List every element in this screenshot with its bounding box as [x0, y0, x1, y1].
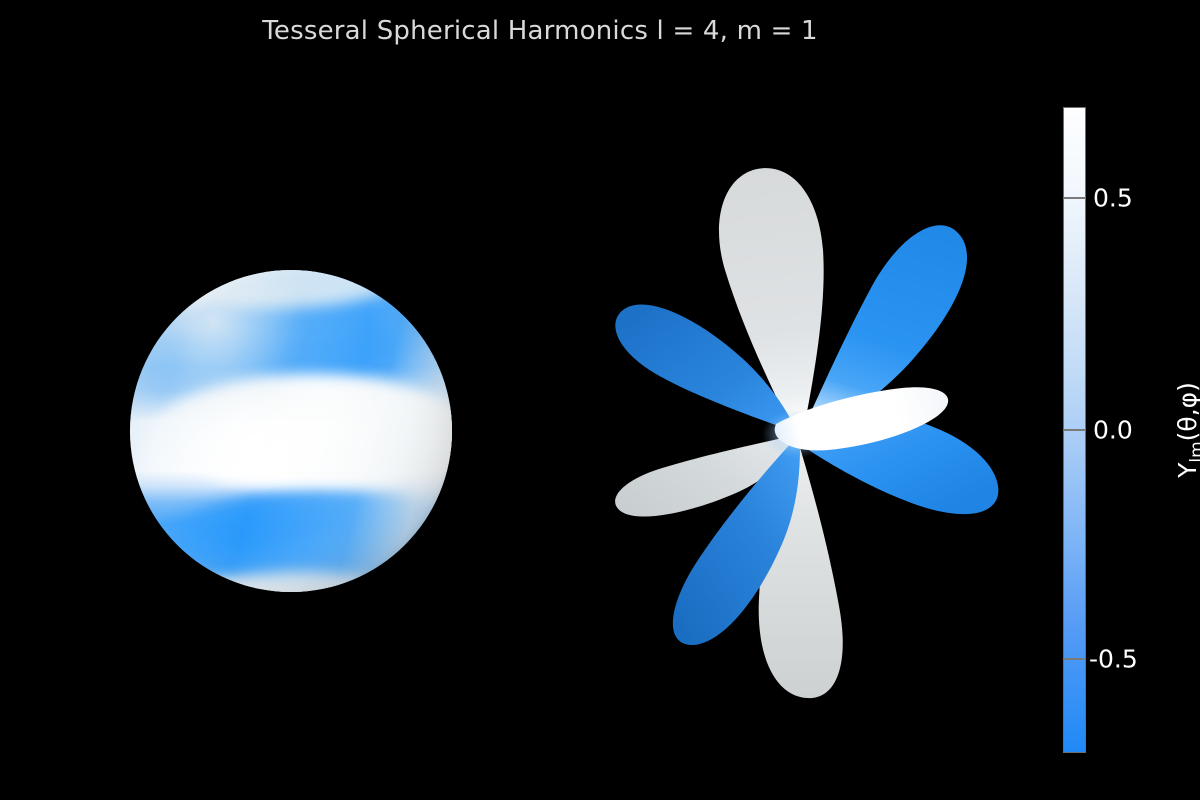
- sphere-body: [130, 240, 468, 644]
- sphere-svg: [60, 170, 530, 690]
- colorbar-label-subscript: lm: [1187, 441, 1200, 462]
- colorbar-label-symbol: Y: [1173, 463, 1200, 478]
- colorbar-tick-mark-1: [1063, 429, 1086, 431]
- colorbar-tick-mark-2: [1063, 658, 1086, 660]
- colorbar-axis-label: Ylm(θ,φ): [1173, 382, 1200, 478]
- radial-lobe-plot: [560, 120, 1040, 740]
- colorbar-label-arguments: (θ,φ): [1173, 382, 1200, 441]
- page-title: Tesseral Spherical Harmonics l = 4, m = …: [0, 16, 1080, 46]
- figure-canvas: Tesseral Spherical Harmonics l = 4, m = …: [0, 0, 1200, 800]
- lobes-svg: [560, 120, 1040, 740]
- colorbar-tick-mark-0: [1063, 197, 1086, 199]
- colorbar-tick-label-1: 0.0: [1093, 416, 1133, 445]
- colorbar-tick-label-2: -0.5: [1089, 645, 1138, 674]
- colorbar-tick-label-0: 0.5: [1093, 184, 1133, 213]
- sphere-surface-plot: [60, 170, 530, 690]
- sphere-edge-shadow: [130, 270, 452, 592]
- lobe-group: [615, 168, 998, 698]
